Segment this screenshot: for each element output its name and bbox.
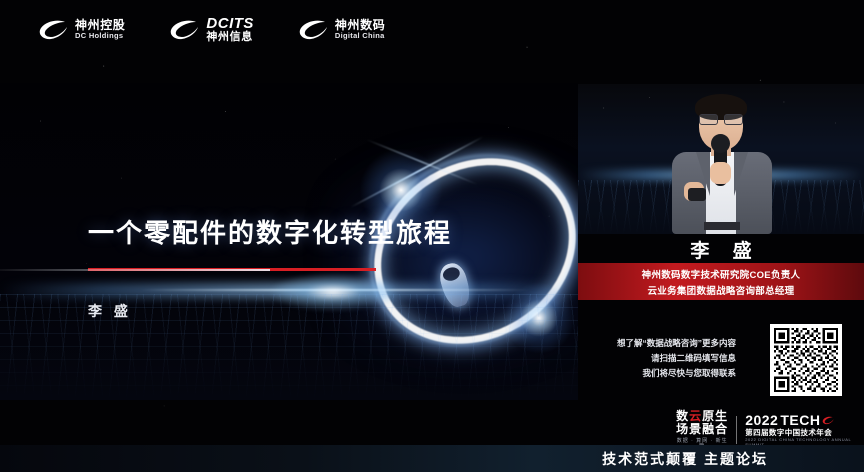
- event-logo-divider: [736, 416, 737, 444]
- qr-text-line-1: 想了解“数据战略咨询”更多内容: [586, 336, 736, 351]
- presenter-clicker-icon: [688, 188, 706, 201]
- jacket-lapel-right: [734, 152, 748, 196]
- event-brand: TECH: [780, 413, 820, 428]
- logo-label-en: DC Holdings: [75, 32, 125, 40]
- event-year: 2022: [745, 413, 778, 428]
- slide-title: 一个零配件的数字化转型旅程: [88, 213, 488, 250]
- swirl-icon: [298, 19, 328, 41]
- swirl-icon: [38, 19, 68, 41]
- qr-instruction-text: 想了解“数据战略咨询”更多内容 请扫描二维码填写信息 我们将尽快与您取得联系: [586, 336, 736, 381]
- speaker-title-banner: 神州数码数字技术研究院COE负责人 云业务集团数据战略咨询部总经理: [578, 263, 864, 300]
- speaker-figure: [666, 94, 778, 234]
- event-brand-line: 2022 TECH: [745, 413, 862, 428]
- bottom-banner: 技术范式颠覆 主题论坛: [0, 445, 864, 472]
- speaker-video-panel: [578, 84, 864, 234]
- presentation-stage: 神州控股 DC Holdings DCITS 神州信息 神州数码: [0, 0, 864, 472]
- qr-code-icon: [774, 328, 838, 392]
- speaker-title-line-1: 神州数码数字技术研究院COE负责人: [642, 267, 801, 281]
- speaker-hand-right: [710, 162, 731, 184]
- logo-label-brand: DCITS: [206, 16, 254, 32]
- slide-author: 李 盛: [88, 301, 488, 321]
- logo-dcits: DCITS 神州信息: [169, 16, 254, 44]
- qr-code[interactable]: [770, 324, 842, 396]
- event-logo-lockup: 数云原生 场景融合 数据 · 算网 · 新生管 2022 TECH 第四届数字中…: [676, 411, 862, 449]
- glasses-icon: [699, 114, 743, 123]
- title-divider: [88, 268, 376, 271]
- slide-title-block: 一个零配件的数字化转型旅程 李 盛: [88, 213, 488, 321]
- speaker-name: 李 盛: [578, 236, 864, 263]
- sponsor-logo-bar: 神州控股 DC Holdings DCITS 神州信息 神州数码: [0, 0, 864, 60]
- speaker-belt: [704, 222, 740, 230]
- slide-area: 一个零配件的数字化转型旅程 李 盛: [0, 83, 578, 400]
- logo-dc-holdings: 神州控股 DC Holdings: [38, 19, 125, 41]
- qr-contact-block: 想了解“数据战略咨询”更多内容 请扫描二维码填写信息 我们将尽快与您取得联系: [578, 318, 864, 404]
- qr-text-line-2: 请扫描二维码填写信息: [586, 351, 736, 366]
- logo-digital-china: 神州数码 Digital China: [298, 19, 385, 41]
- logo-label-cn: 神州信息: [206, 32, 254, 44]
- event-name-block: 2022 TECH 第四届数字中国技术年会 2022 DIGITAL CHINA…: [745, 413, 862, 447]
- event-slogan-line-2: 场景融合: [676, 423, 728, 436]
- microphone-icon: [711, 134, 730, 153]
- swirl-icon: [822, 416, 834, 425]
- qr-text-line-3: 我们将尽快与您取得联系: [586, 366, 736, 381]
- speaker-title-line-2: 云业务集团数据战略咨询部总经理: [647, 283, 794, 297]
- forum-title: 技术范式颠覆 主题论坛: [602, 449, 768, 469]
- event-name-cn: 第四届数字中国技术年会: [745, 429, 862, 437]
- swirl-icon: [169, 19, 199, 41]
- logo-label-en: Digital China: [335, 32, 385, 40]
